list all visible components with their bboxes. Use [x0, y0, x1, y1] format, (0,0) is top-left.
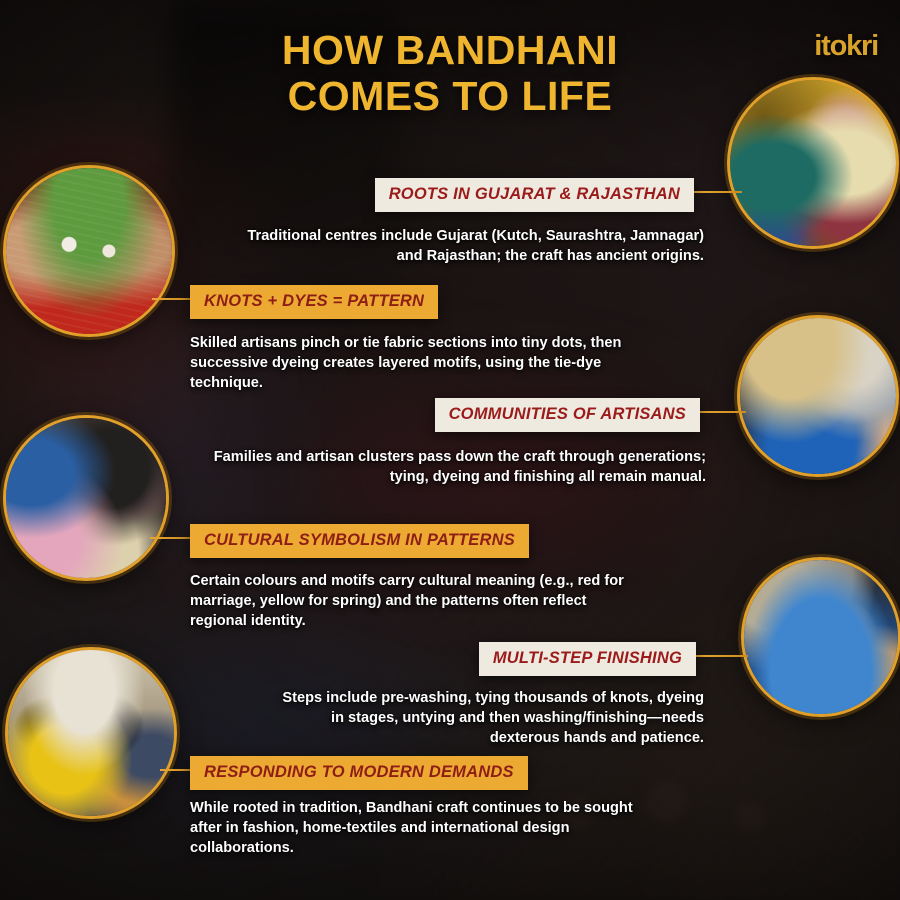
photo-tying-red-fabric-image: [6, 168, 172, 334]
photo-lifting-yellow-cloth: [8, 650, 174, 816]
section-body-cultural-symbolism: Certain colours and motifs carry cultura…: [190, 571, 628, 631]
connector-line-finishing: [696, 655, 748, 657]
connector-line-modern: [160, 769, 194, 771]
photo-lifting-yellow-cloth-image: [8, 650, 174, 816]
section-heading-modern-demands[interactable]: RESPONDING TO MODERN DEMANDS: [190, 756, 528, 790]
photo-two-women-tying: [730, 80, 896, 246]
section-heading-communities[interactable]: COMMUNITIES OF ARTISANS: [435, 398, 700, 432]
photo-dyer-blue-tub: [740, 318, 896, 474]
brand-logo[interactable]: itokri: [814, 30, 878, 63]
connector-line-knots: [152, 298, 192, 300]
photo-tying-red-fabric: [6, 168, 172, 334]
photo-dyer-blue-tub-image: [740, 318, 896, 474]
section-heading-knots-dyes[interactable]: KNOTS + DYES = PATTERN: [190, 285, 438, 319]
section-heading-cultural-symbolism[interactable]: CULTURAL SYMBOLISM IN PATTERNS: [190, 524, 529, 558]
section-heading-multi-step-finishing[interactable]: MULTI-STEP FINISHING: [479, 642, 696, 676]
section-body-multi-step-finishing: Steps include pre-washing, tying thousan…: [266, 688, 704, 748]
section-body-knots-dyes: Skilled artisans pinch or tie fabric sec…: [190, 333, 638, 393]
photo-indigo-vat: [744, 560, 898, 714]
connector-line-communities: [700, 411, 746, 413]
photo-artisan-family-tying: [6, 418, 166, 578]
connector-line-cultural: [150, 537, 192, 539]
section-body-roots: Traditional centres include Gujarat (Kut…: [238, 226, 704, 266]
section-body-communities: Families and artisan clusters pass down …: [206, 447, 706, 487]
photo-two-women-tying-image: [730, 80, 896, 246]
section-body-modern-demands: While rooted in tradition, Bandhani craf…: [190, 798, 650, 858]
page-title-line-1: HOW BANDHANI: [282, 27, 618, 73]
section-heading-roots[interactable]: ROOTS IN GUJARAT & RAJASTHAN: [375, 178, 694, 212]
photo-artisan-family-tying-image: [6, 418, 166, 578]
connector-line-roots: [694, 191, 742, 193]
photo-indigo-vat-image: [744, 560, 898, 714]
